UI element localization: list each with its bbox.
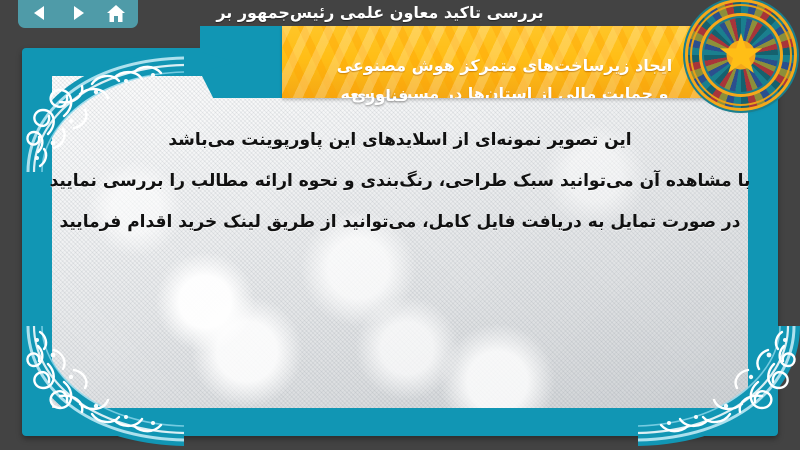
body-line-2: با مشاهده آن می‌توانید سبک طراحی، رنگ‌بن… (0, 161, 800, 202)
slide-body-text: این تصویر نمونه‌ای از اسلایدهای این پاور… (0, 120, 800, 243)
header-title-line-2: ایجاد زیرساخت‌های متمرکز هوش مصنوعی (282, 56, 727, 75)
next-slide-button[interactable] (66, 2, 90, 24)
navigation-toolbar (18, 0, 138, 28)
header-title-line-4: فناوری (0, 86, 760, 105)
body-line-1: این تصویر نمونه‌ای از اسلایدهای این پاور… (0, 120, 800, 161)
triangle-left-icon (31, 4, 49, 22)
slide-viewer: بررسی تاکید معاون علمی رئیس‌جمهور بر ایج… (0, 0, 800, 450)
body-line-3: در صورت تمایل به دریافت فایل کامل، می‌تو… (0, 202, 800, 243)
persian-medallion-icon (688, 2, 794, 108)
triangle-right-icon (69, 4, 87, 22)
previous-slide-button[interactable] (28, 2, 52, 24)
home-icon (106, 4, 126, 23)
home-button[interactable] (104, 2, 128, 24)
